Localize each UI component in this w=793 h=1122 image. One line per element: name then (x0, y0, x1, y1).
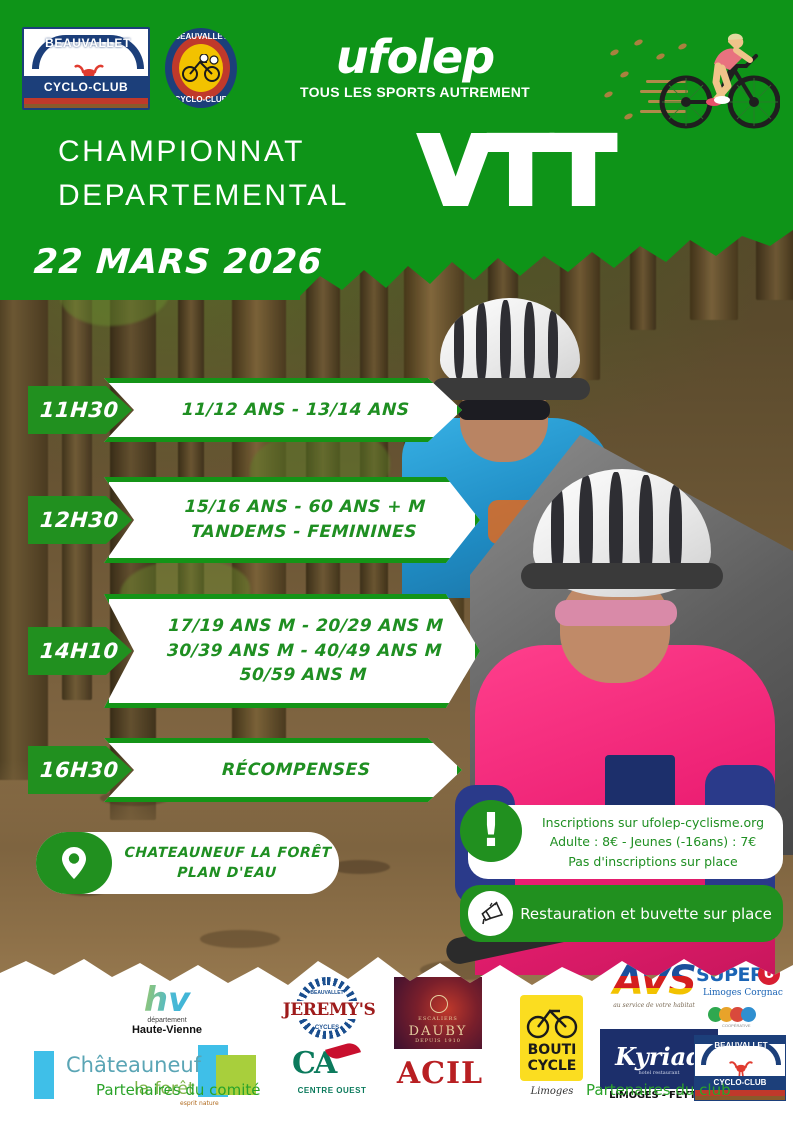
category-line: TANDEMS - FEMININES (183, 520, 425, 545)
title-line-2: DEPARTEMENTAL (58, 174, 408, 218)
schedule-banner: 11/12 ANS - 13/14 ANS (104, 378, 462, 442)
ufolep-wordmark: ufolep (300, 34, 530, 80)
club-sponsors-caption: Partenaires du club (586, 1083, 731, 1098)
sponsor-dauby[interactable]: ESCALIERS DAUBY DEPUIS 1910 (394, 977, 482, 1049)
registration-info-text: Inscriptions sur ufolep-cyclisme.org Adu… (528, 806, 778, 878)
registration-line-2: Adulte : 8€ - Jeunes (-16ans) : 7€ (528, 832, 778, 851)
schedule-banner: RÉCOMPENSES (104, 738, 462, 802)
logo-bottom-text: CYCLO-CLUB (24, 76, 148, 98)
super-u-sub: Limoges Corgnac (696, 989, 790, 998)
map-pin-icon (61, 846, 87, 880)
discipline-title: VTT (420, 126, 613, 218)
logo-arc-text: BEAUVALLET (24, 37, 150, 49)
schedule-time: 16H30 (27, 760, 119, 781)
ufolep-logo: ufolep TOUS LES SPORTS AUTREMENT (300, 34, 530, 101)
committee-sponsors-caption: Partenaires du comité (96, 1083, 260, 1098)
page-title: CHAMPIONNAT DEPARTEMENTAL (58, 130, 408, 217)
haute-vienne-line-1: département (112, 1017, 222, 1024)
event-date: 22 MARS 2026 (33, 245, 324, 279)
jeremys-sub-text: CYCLES (308, 1025, 346, 1031)
schedule-time: 11H30 (27, 400, 119, 421)
category-line: 50/59 ANS M (165, 663, 441, 688)
dauby-sub: DEPUIS 1910 (394, 1039, 482, 1044)
megaphone-icon (468, 891, 513, 936)
cyclist-illustration-icon (590, 22, 780, 132)
schedule-categories: RÉCOMPENSES (195, 758, 371, 783)
bouticycle-sub: Limoges (520, 1087, 584, 1097)
round-logo-top-text: BEAUVALLET (165, 33, 237, 41)
category-line: 15/16 ANS - 60 ANS + M (184, 495, 426, 520)
sponsor-jeremys-cycles[interactable]: BEAUVALLET JEREMY'S CYCLES (278, 975, 378, 1041)
ufolep-tagline: TOUS LES SPORTS AUTREMENT (300, 84, 530, 101)
schedule-categories: 15/16 ANS - 60 ANS + M TANDEMS - FEMININ… (157, 495, 427, 544)
location-icon-circle (36, 832, 112, 894)
category-line: 11/12 ANS - 13/14 ANS (182, 398, 411, 423)
sponsor-bouticycle[interactable]: BOUTI CYCLE Limoges (520, 995, 584, 1103)
sponsor-chateauneuf-la-foret[interactable]: Châteauneuf la forêt esprit nature (30, 1041, 265, 1111)
haute-vienne-mark: hv (112, 983, 222, 1017)
sponsor-credit-agricole[interactable]: C A CENTRE OUEST (284, 1043, 380, 1105)
footer-logo-arc-text: BEAUVALLET (695, 1042, 786, 1050)
avs-tagline: au service de votre habitat (596, 1003, 712, 1009)
catering-text: Restauration et buvette sur place (515, 887, 777, 941)
logo-brown-stripe (24, 104, 148, 108)
cyclists-icon (181, 54, 223, 82)
jeremys-main-text: JEREMY'S (282, 1002, 376, 1019)
category-line: 17/19 ANS M - 20/29 ANS M (168, 614, 444, 639)
bouticycle-line-2: CYCLE (520, 1059, 584, 1073)
registration-line-1: Inscriptions sur ufolep-cyclisme.org (528, 813, 778, 832)
category-line: 30/39 ANS M - 40/49 ANS M (167, 639, 443, 664)
beauvallet-round-logo: BEAUVALLET CYCLO-CLUB (165, 28, 237, 108)
category-line: RÉCOMPENSES (221, 758, 371, 783)
exclamation-glyph: ! (481, 807, 502, 853)
poster-root: BEAUVALLET CYCLO-CLUB BEAUVALLET CYCLO-C… (0, 0, 793, 1122)
schedule-banner: 17/19 ANS M - 20/29 ANS M 30/39 ANS M - … (104, 594, 480, 708)
schedule-banner: 15/16 ANS - 60 ANS + M TANDEMS - FEMININ… (104, 477, 480, 563)
coop-rings (708, 1007, 752, 1022)
sponsors-footer: hv département Haute-Vienne Châteauneuf … (0, 955, 793, 1122)
registration-line-3: Pas d'inscriptions sur place (528, 852, 778, 871)
bike-icon (526, 1003, 578, 1039)
schedule-time: 12H30 (27, 510, 119, 531)
schedule-categories: 17/19 ANS M - 20/29 ANS M 30/39 ANS M - … (139, 614, 444, 688)
dauby-main: DAUBY (394, 1025, 482, 1038)
coop-sub: COOPÉRATIVE (722, 1024, 751, 1028)
megaphone-glyph (477, 901, 505, 927)
beauvallet-cyclo-club-logo: BEAUVALLET CYCLO-CLUB (22, 27, 150, 110)
dauby-sub-top: ESCALIERS (394, 1017, 482, 1022)
chateauneuf-line-3: esprit nature (180, 1101, 219, 1107)
haute-vienne-line-2: Haute-Vienne (112, 1024, 222, 1036)
location-line-1: CHATEAUNEUF LA FORÊT (124, 843, 332, 863)
sponsor-acil[interactable]: ACIL (394, 1059, 486, 1089)
schedule-time: 14H10 (27, 641, 119, 662)
credit-agricole-sub: CENTRE OUEST (284, 1087, 380, 1095)
bouticycle-line-1: BOUTI (520, 1043, 584, 1057)
jeremys-top-text: BEAUVALLET (308, 991, 346, 996)
location-text: CHATEAUNEUF LA FORÊT PLAN D'EAU (118, 832, 336, 894)
sponsor-haute-vienne[interactable]: hv département Haute-Vienne (112, 983, 222, 1036)
round-logo-bottom-text: CYCLO-CLUB (165, 96, 237, 104)
location-line-2: PLAN D'EAU (123, 863, 331, 883)
schedule-categories: 11/12 ANS - 13/14 ANS (156, 398, 411, 423)
chateauneuf-line-1: Châteauneuf (66, 1055, 201, 1076)
exclamation-icon: ! (460, 800, 522, 862)
title-line-1: CHAMPIONNAT (58, 130, 408, 174)
